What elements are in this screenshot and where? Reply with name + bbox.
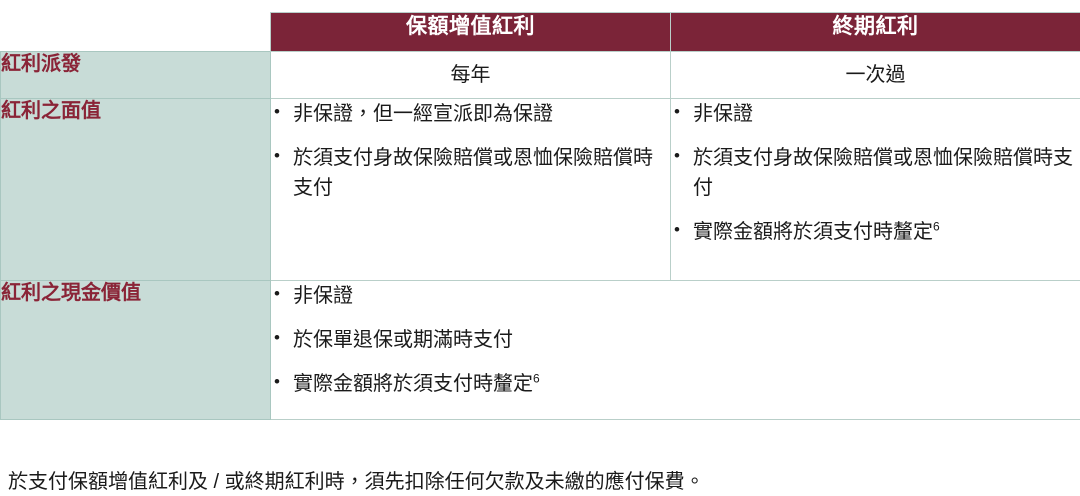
bullet-text: 實際金額將於須支付時釐定 xyxy=(293,373,533,395)
table-header-row: 保額增值紅利 終期紅利 xyxy=(1,13,1080,52)
bullet-text: 於須支付身故保險賠償或恩恤保險賠償時支付 xyxy=(293,147,653,199)
footnote-marker: 6 xyxy=(933,219,940,233)
column-header-terminal-bonus: 終期紅利 xyxy=(671,13,1080,52)
bullet-text: 於須支付身故保險賠償或恩恤保險賠償時支付 xyxy=(693,147,1073,199)
table-row-bonus-face-value: 紅利之面值 非保證，但一經宣派即為保證於須支付身故保險賠償或恩恤保險賠償時支付 … xyxy=(1,99,1080,281)
cell-bonus-face-value-reversionary: 非保證，但一經宣派即為保證於須支付身故保險賠償或恩恤保險賠償時支付 xyxy=(271,99,671,281)
table-header: 保額增值紅利 終期紅利 xyxy=(1,13,1080,52)
bullet-item: 非保證，但一經宣派即為保證 xyxy=(271,99,670,129)
row-label-bonus-cash-value: 紅利之現金價值 xyxy=(1,281,271,420)
bullet-item: 於須支付身故保險賠償或恩恤保險賠償時支付 xyxy=(271,143,670,203)
bullet-text: 非保證 xyxy=(293,285,353,307)
bullet-text: 實際金額將於須支付時釐定 xyxy=(693,221,933,243)
cell-bonus-dispatch-reversionary: 每年 xyxy=(271,52,671,99)
table-footnote: 於支付保額增值紅利及 / 或終期紅利時，須先扣除任何欠款及未繳的應付保費。 xyxy=(8,468,1068,496)
bullet-item: 非保證 xyxy=(671,99,1080,129)
table-row-bonus-cash-value: 紅利之現金價值 非保證於保單退保或期滿時支付實際金額將於須支付時釐定6 xyxy=(1,281,1080,420)
bullet-item: 非保證 xyxy=(271,281,1080,311)
bullet-item: 於保單退保或期滿時支付 xyxy=(271,325,1080,355)
bonus-comparison-page: 保額增值紅利 終期紅利 紅利派發 每年 一次過 紅利之面值 非保證，但一經宣派即… xyxy=(0,0,1080,493)
column-header-reversionary-bonus: 保額增值紅利 xyxy=(271,13,671,52)
bullet-item: 實際金額將於須支付時釐定6 xyxy=(671,217,1080,247)
bullet-text: 非保證 xyxy=(693,103,753,125)
footnote-marker: 6 xyxy=(533,371,540,385)
cell-bonus-cash-value-merged: 非保證於保單退保或期滿時支付實際金額將於須支付時釐定6 xyxy=(271,281,1080,420)
bullet-item: 實際金額將於須支付時釐定6 xyxy=(271,369,1080,399)
table-corner-cell xyxy=(1,13,271,52)
bullet-text: 於保單退保或期滿時支付 xyxy=(293,329,513,351)
bullet-list-cash-value: 非保證於保單退保或期滿時支付實際金額將於須支付時釐定6 xyxy=(271,281,1080,399)
table-body: 紅利派發 每年 一次過 紅利之面值 非保證，但一經宣派即為保證於須支付身故保險賠… xyxy=(1,52,1080,420)
bullet-item: 於須支付身故保險賠償或恩恤保險賠償時支付 xyxy=(671,143,1080,203)
row-label-bonus-dispatch: 紅利派發 xyxy=(1,52,271,99)
cell-bonus-dispatch-terminal: 一次過 xyxy=(671,52,1080,99)
bullet-list-face-value-reversionary: 非保證，但一經宣派即為保證於須支付身故保險賠償或恩恤保險賠償時支付 xyxy=(271,99,670,203)
bullet-text: 非保證，但一經宣派即為保證 xyxy=(293,103,553,125)
bullet-list-face-value-terminal: 非保證於須支付身故保險賠償或恩恤保險賠償時支付實際金額將於須支付時釐定6 xyxy=(671,99,1080,247)
row-label-bonus-face-value: 紅利之面值 xyxy=(1,99,271,281)
table-row-bonus-dispatch: 紅利派發 每年 一次過 xyxy=(1,52,1080,99)
cell-bonus-face-value-terminal: 非保證於須支付身故保險賠償或恩恤保險賠償時支付實際金額將於須支付時釐定6 xyxy=(671,99,1080,281)
bonus-comparison-table: 保額增值紅利 終期紅利 紅利派發 每年 一次過 紅利之面值 非保證，但一經宣派即… xyxy=(0,12,1080,420)
